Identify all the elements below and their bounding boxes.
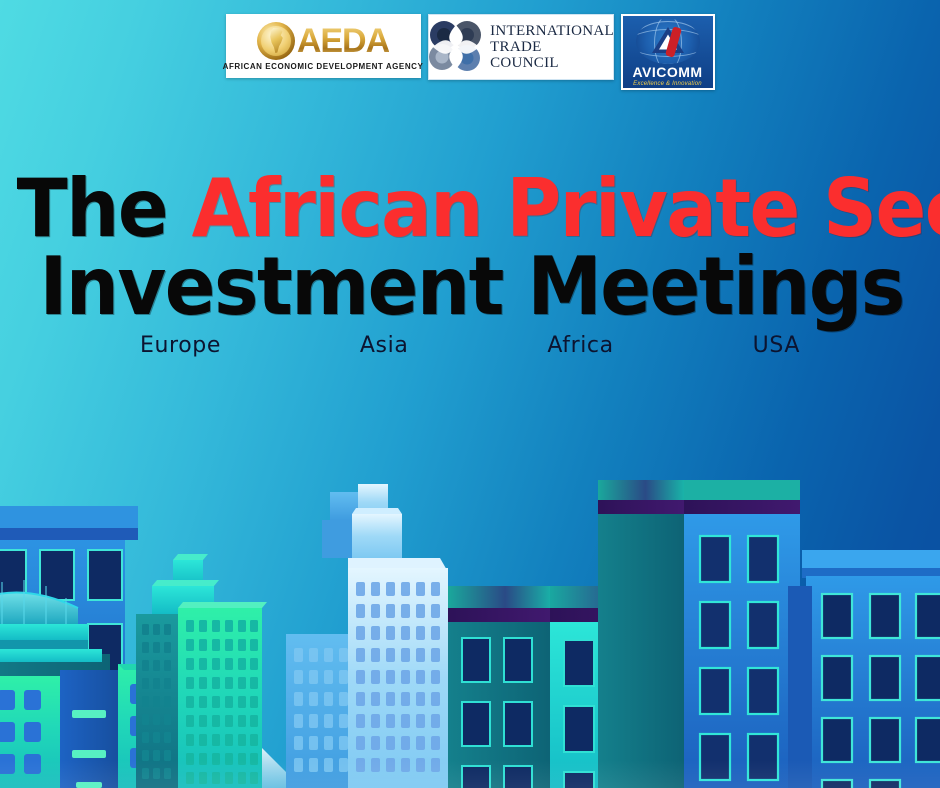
africa-globe-icon <box>257 22 295 60</box>
region-europe: Europe <box>140 333 221 358</box>
headline-block: The African Private Sector Investment Me… <box>0 170 940 326</box>
headline-line-1: The African Private Sector <box>0 170 940 248</box>
cityscape <box>0 458 940 788</box>
building-teal-slab <box>598 480 684 788</box>
building-tall-blue <box>684 480 800 788</box>
region-usa: USA <box>753 333 800 358</box>
headline-investment-meetings: Investment Meetings <box>40 240 904 333</box>
logo-aeda[interactable]: AEDA AFRICAN ECONOMIC DEVELOPMENT AGENCY <box>226 14 421 78</box>
region-row: Europe Asia Africa USA <box>140 333 800 358</box>
aeda-wordmark-row: AEDA <box>257 21 389 61</box>
poster-root: AEDA AFRICAN ECONOMIC DEVELOPMENT AGENCY <box>0 0 940 788</box>
interlocking-circles-icon <box>427 19 485 75</box>
building-small-gap <box>788 586 812 788</box>
region-africa: Africa <box>547 333 613 358</box>
headline-line-2: Investment Meetings <box>0 248 940 326</box>
aeda-letters: AEDA <box>297 22 389 60</box>
itc-line-1: INTERNATIONAL <box>490 23 614 39</box>
building-teal-stacked <box>136 554 290 788</box>
africa-continent-shape <box>268 28 285 54</box>
itc-line-3: COUNCIL <box>490 55 614 71</box>
itc-wordmark: INTERNATIONAL TRADE COUNCIL <box>490 23 614 71</box>
aeda-tagline: AFRICAN ECONOMIC DEVELOPMENT AGENCY <box>223 62 424 72</box>
building-right-blue <box>802 550 940 788</box>
building-dark-teal-purple-roof <box>448 586 552 788</box>
region-asia: Asia <box>360 333 409 358</box>
itc-line-2: TRADE <box>490 39 614 55</box>
logo-avicomm[interactable]: AVICOMM Excellence & Innovation <box>621 14 715 90</box>
avicomm-name: AVICOMM <box>632 65 702 80</box>
avicomm-tagline: Excellence & Innovation <box>633 80 702 88</box>
cityscape-svg <box>0 458 940 788</box>
globe-triangle-icon <box>636 19 700 64</box>
building-blue-midrise <box>286 634 354 788</box>
logo-bar: AEDA AFRICAN ECONOMIC DEVELOPMENT AGENCY <box>0 14 940 92</box>
logo-international-trade-council[interactable]: INTERNATIONAL TRADE COUNCIL <box>428 14 614 80</box>
